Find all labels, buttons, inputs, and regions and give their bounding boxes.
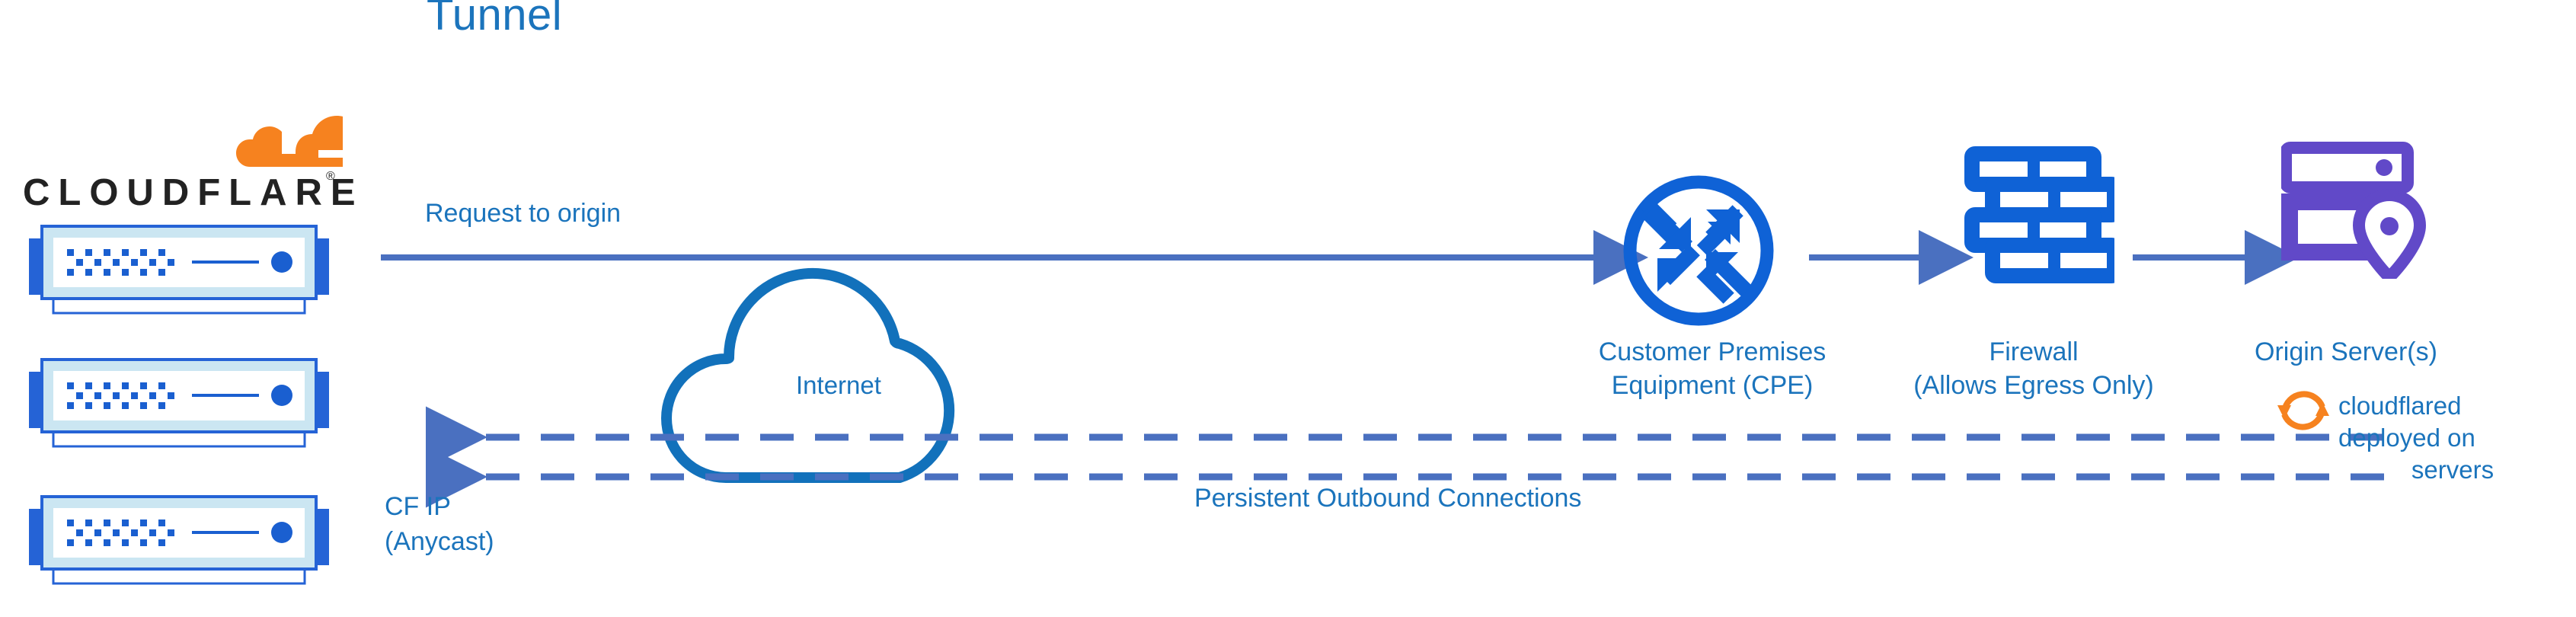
list-item [15,350,343,449]
label-request-to-origin: Request to origin [425,197,621,230]
label-cloudflared-line3: servers [2338,454,2567,486]
label-cf-ip-line2: (Anycast) [385,524,583,559]
label-customer-premises-equipment: Customer Premises Equipment (CPE) [1548,335,1876,402]
page-title: Tunnel [427,0,562,32]
label-cf-ip: CF IP (Anycast) [385,489,583,559]
server-icon [15,217,343,316]
label-cpe-line1: Customer Premises [1548,335,1876,369]
list-item [15,488,343,587]
list-item [15,217,343,316]
cpe-converging-arrows-icon [1618,170,1779,331]
label-firewall: Firewall (Allows Egress Only) [1878,335,2190,402]
label-firewall-line2: (Allows Egress Only) [1878,369,2190,402]
label-persistent-outbound-connections: Persistent Outbound Connections [1194,481,1581,515]
cloudflare-wordmark: CLOUDFLARE [23,171,364,214]
label-cloudflared-line1: cloudflared [2338,390,2567,422]
cloudflare-logo: CLOUDFLARE ® [23,107,343,209]
label-firewall-line1: Firewall [1878,335,2190,369]
sync-arrows-icon [2274,381,2333,440]
label-cloudflared-deployed: cloudflared deployed on servers [2338,390,2567,486]
diagram-canvas: Tunnel CLOUDFLARE ® [0,0,2576,617]
registered-trademark-mark: ® [326,170,335,184]
label-internet: Internet [796,369,881,402]
label-cloudflared-line2: deployed on [2338,422,2567,454]
origin-server-location-pin-icon [2281,142,2460,275]
server-icon [15,488,343,587]
firewall-brick-wall-icon [1962,145,2114,301]
server-icon [15,350,343,449]
label-cpe-line2: Equipment (CPE) [1548,369,1876,402]
label-origin-servers: Origin Server(s) [2255,335,2559,369]
label-cf-ip-line1: CF IP [385,489,583,524]
